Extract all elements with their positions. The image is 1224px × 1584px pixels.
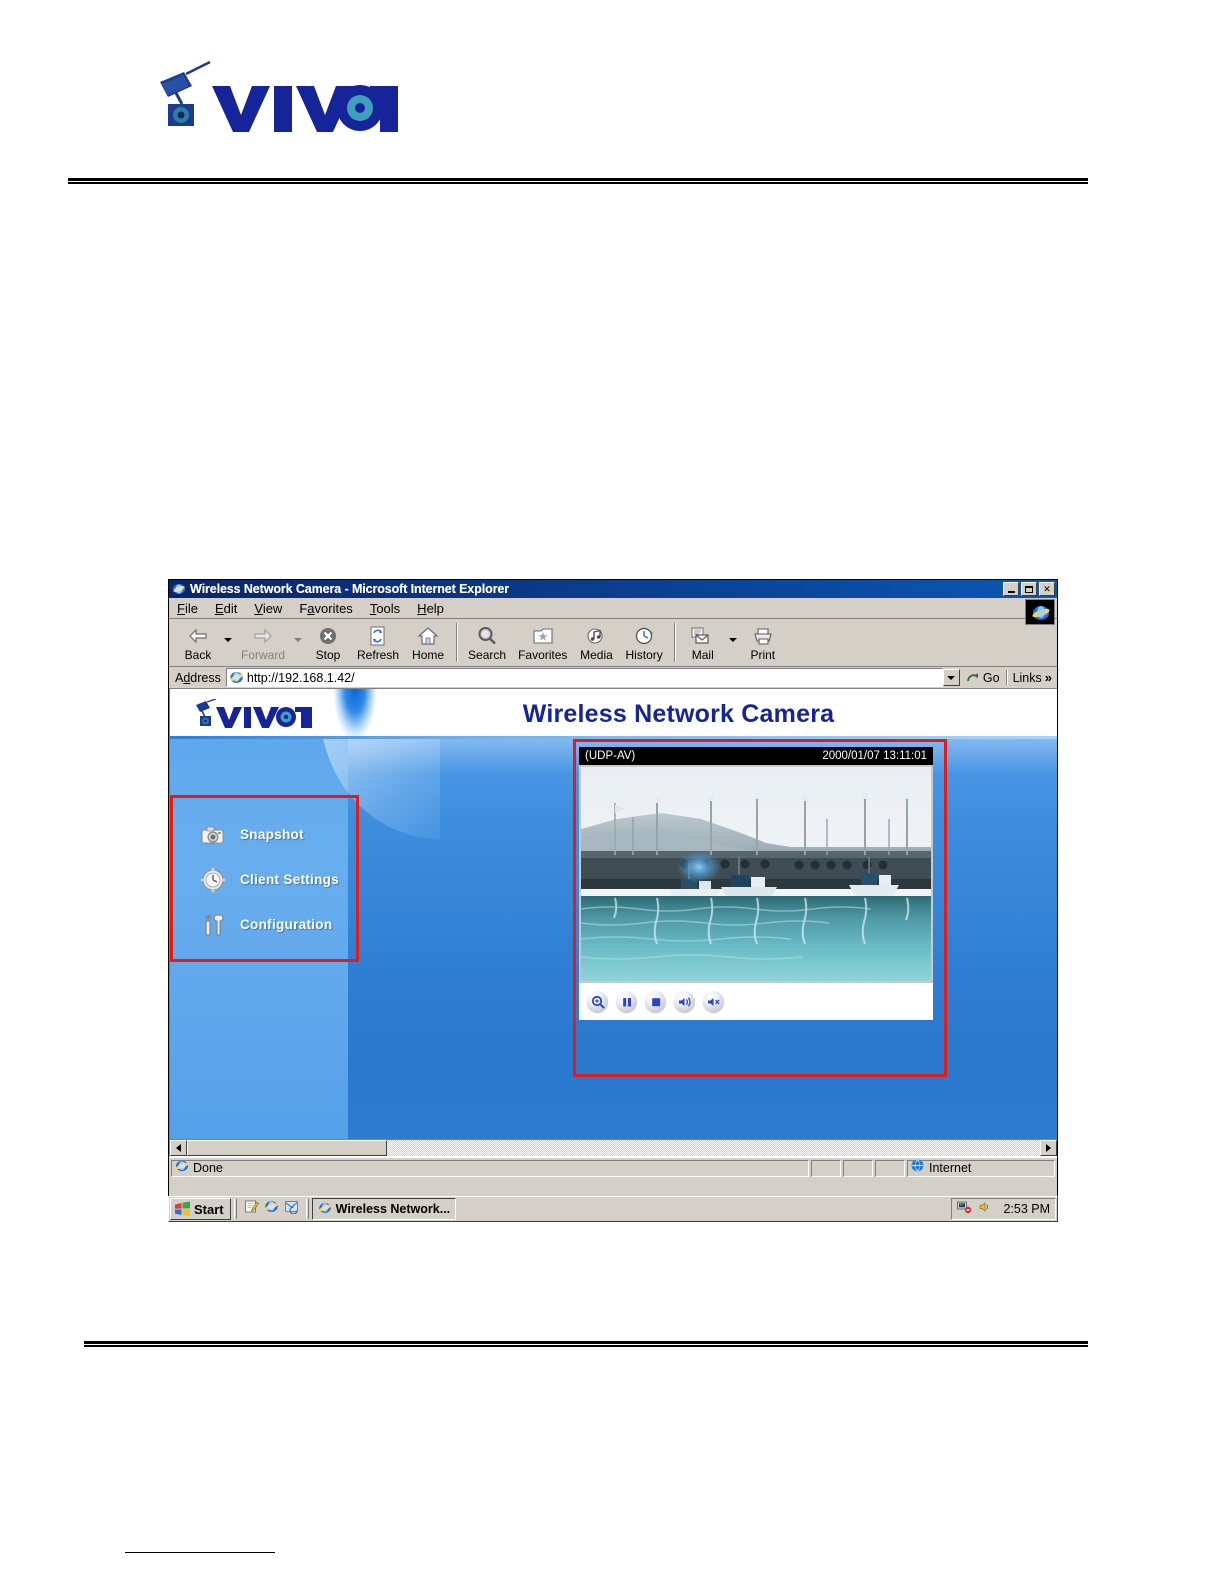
address-input[interactable]: http://192.168.1.42/ <box>226 668 943 687</box>
toolbar-separator-1 <box>456 623 457 662</box>
toolbar-history-button[interactable]: History <box>619 619 668 666</box>
toolbar-stop-button[interactable]: Stop <box>305 619 351 666</box>
browser-window: Wireless Network Camera - Microsoft Inte… <box>168 579 1058 1220</box>
magnifier-plus-icon <box>591 995 605 1009</box>
taskbar-task-label: Wireless Network... <box>336 1202 451 1216</box>
page-title: Wireless Network Camera <box>170 700 1057 729</box>
toolbar-print-button[interactable]: Print <box>740 619 786 666</box>
clock-gear-icon <box>200 867 226 893</box>
video-info-bar: (UDP-AV) 2000/01/07 13:11:01 <box>579 747 933 765</box>
address-value: http://192.168.1.42/ <box>247 671 942 685</box>
ie-page-icon <box>318 1201 332 1218</box>
menu-item-help[interactable]: Help <box>417 601 444 616</box>
ie-window-icon <box>172 582 186 596</box>
scroll-thumb[interactable] <box>187 1140 387 1156</box>
menu-item-favorites[interactable]: Favorites <box>299 601 352 616</box>
toolbar-media-button[interactable]: Media <box>573 619 619 666</box>
sidebar-item-client-settings-label: Client Settings <box>240 872 339 887</box>
printer-icon <box>752 625 774 647</box>
mute-button[interactable] <box>703 991 724 1012</box>
outlook-express-icon[interactable] <box>284 1199 299 1219</box>
browser-toolbar: Back Forward Stop Refresh Home <box>169 619 1057 667</box>
zoom-button[interactable] <box>587 991 608 1012</box>
status-pane-3 <box>875 1160 905 1177</box>
forward-history-caret[interactable] <box>291 619 305 666</box>
windows-taskbar: Start <box>168 1196 1058 1222</box>
back-history-caret[interactable] <box>221 619 235 666</box>
page-banner: Wireless Network Camera <box>170 689 1057 739</box>
toolbar-forward-label: Forward <box>241 648 285 662</box>
chevron-right-icon: » <box>1045 670 1052 685</box>
pause-icon <box>620 995 634 1009</box>
toolbar-separator-2 <box>674 623 675 662</box>
status-text: Done <box>193 1161 223 1175</box>
security-zone-pane[interactable]: Internet <box>907 1160 1055 1177</box>
clock-time: 2:53 PM <box>1003 1202 1050 1216</box>
toolbar-search-button[interactable]: Search <box>462 619 512 666</box>
scroll-track[interactable] <box>387 1140 1040 1156</box>
menu-item-tools[interactable]: Tools <box>370 601 400 616</box>
video-controls <box>579 983 933 1020</box>
system-tray: 2:53 PM <box>951 1198 1056 1220</box>
toolbar-forward-button[interactable]: Forward <box>235 619 291 666</box>
sidebar-item-configuration[interactable]: Configuration <box>173 902 356 947</box>
page-horizontal-scrollbar[interactable] <box>170 1139 1057 1156</box>
toolbar-history-label: History <box>625 648 662 662</box>
toolbar-stop-label: Stop <box>316 648 341 662</box>
taskbar-divider-1 <box>234 1199 237 1219</box>
go-button[interactable]: Go <box>961 671 1006 685</box>
toolbar-refresh-label: Refresh <box>357 648 399 662</box>
status-bar: Done Internet <box>169 1157 1057 1178</box>
search-icon <box>477 625 497 647</box>
stop-square-icon <box>649 995 663 1009</box>
toolbar-print-label: Print <box>750 648 775 662</box>
toolbar-mail-label: Mail <box>692 648 714 662</box>
volume-down-button[interactable] <box>674 991 695 1012</box>
video-timestamp: 2000/01/07 13:11:01 <box>822 750 927 762</box>
video-panel: (UDP-AV) 2000/01/07 13:11:01 <box>579 747 933 1020</box>
scroll-right-button[interactable] <box>1040 1140 1057 1156</box>
back-arrow-icon <box>187 625 209 647</box>
status-pane-2 <box>843 1160 873 1177</box>
refresh-icon <box>369 625 387 647</box>
tools-icon <box>200 912 226 938</box>
taskbar-divider-2 <box>306 1199 309 1219</box>
menu-item-edit[interactable]: Edit <box>215 601 237 616</box>
page-body: Snapshot <box>170 739 1057 1139</box>
toolbar-mail-button[interactable]: Mail <box>680 619 726 666</box>
harbor-scene-image <box>581 767 931 981</box>
mail-icon <box>690 625 716 647</box>
close-button[interactable]: ✕ <box>1039 582 1055 596</box>
page-ie-icon <box>229 670 244 685</box>
globe-icon <box>911 1159 924 1177</box>
page-viewport: Wireless Network Camera <box>169 689 1057 1157</box>
start-label: Start <box>194 1202 224 1217</box>
address-label: Address <box>171 671 226 685</box>
go-label: Go <box>983 671 1000 685</box>
forward-arrow-icon <box>252 625 274 647</box>
address-bar: Address http://192.168.1.42/ Go Links » <box>169 667 1057 689</box>
toolbar-media-label: Media <box>580 648 613 662</box>
video-stream-frame[interactable] <box>579 765 933 983</box>
speaker-mute-icon <box>706 995 722 1009</box>
toolbar-home-label: Home <box>412 648 444 662</box>
taskbar-task-wireless-network[interactable]: Wireless Network... <box>312 1198 457 1220</box>
start-button[interactable]: Start <box>170 1198 231 1220</box>
stop-button[interactable] <box>645 991 666 1012</box>
history-clock-icon <box>634 625 654 647</box>
window-title: Wireless Network Camera - Microsoft Inte… <box>190 582 1003 596</box>
mail-menu-caret[interactable] <box>726 619 740 666</box>
pause-button[interactable] <box>616 991 637 1012</box>
menu-bar: File Edit View Favorites Tools Help <box>169 598 1057 619</box>
sidebar-item-client-settings[interactable]: Client Settings <box>173 857 356 902</box>
footnote-rule <box>125 1552 275 1553</box>
maximize-button[interactable] <box>1021 582 1037 596</box>
internet-explorer-icon[interactable] <box>264 1199 279 1219</box>
network-icon[interactable] <box>957 1200 973 1219</box>
menu-item-file[interactable]: File <box>177 601 198 616</box>
sidebar-item-snapshot[interactable]: Snapshot <box>173 812 356 857</box>
media-note-icon <box>586 625 606 647</box>
toolbar-refresh-button[interactable]: Refresh <box>351 619 405 666</box>
favorites-star-icon <box>532 625 554 647</box>
sidebar-item-configuration-label: Configuration <box>240 917 332 932</box>
quick-launch-bar <box>240 1199 303 1219</box>
menu-item-view[interactable]: View <box>254 601 282 616</box>
stop-icon <box>318 625 338 647</box>
video-stream-mode: (UDP-AV) <box>585 750 635 762</box>
toolbar-back-label: Back <box>185 648 212 662</box>
status-pane-1 <box>811 1160 841 1177</box>
speaker-down-icon <box>677 995 693 1009</box>
minimize-button[interactable] <box>1003 582 1019 596</box>
volume-icon[interactable] <box>978 1200 992 1219</box>
camera-icon <box>200 822 226 848</box>
links-button[interactable]: Links » <box>1006 670 1055 685</box>
ie-animated-logo <box>1025 599 1055 625</box>
status-ie-icon <box>175 1159 189 1178</box>
toolbar-favorites-button[interactable]: Favorites <box>512 619 573 666</box>
status-message-pane: Done <box>171 1160 809 1177</box>
header-rule <box>68 178 1088 184</box>
toolbar-home-button[interactable]: Home <box>405 619 451 666</box>
window-controls: ✕ <box>1003 582 1055 596</box>
home-icon <box>417 625 439 647</box>
links-label: Links <box>1013 671 1042 685</box>
toolbar-back-button[interactable]: Back <box>175 619 221 666</box>
security-zone-text: Internet <box>929 1161 971 1175</box>
toolbar-favorites-label: Favorites <box>518 648 567 662</box>
go-arrow-icon <box>966 671 980 685</box>
toolbar-search-label: Search <box>468 648 506 662</box>
show-desktop-icon[interactable] <box>244 1199 259 1219</box>
sidebar-item-snapshot-label: Snapshot <box>240 827 304 842</box>
title-bar[interactable]: Wireless Network Camera - Microsoft Inte… <box>169 580 1057 598</box>
document-brand-logo <box>146 60 398 136</box>
address-dropdown-button[interactable] <box>943 669 960 686</box>
footer-rule <box>84 1341 1088 1347</box>
windows-flag-icon <box>174 1201 191 1217</box>
scroll-left-button[interactable] <box>170 1140 187 1156</box>
sidebar-nav: Snapshot <box>170 795 359 962</box>
